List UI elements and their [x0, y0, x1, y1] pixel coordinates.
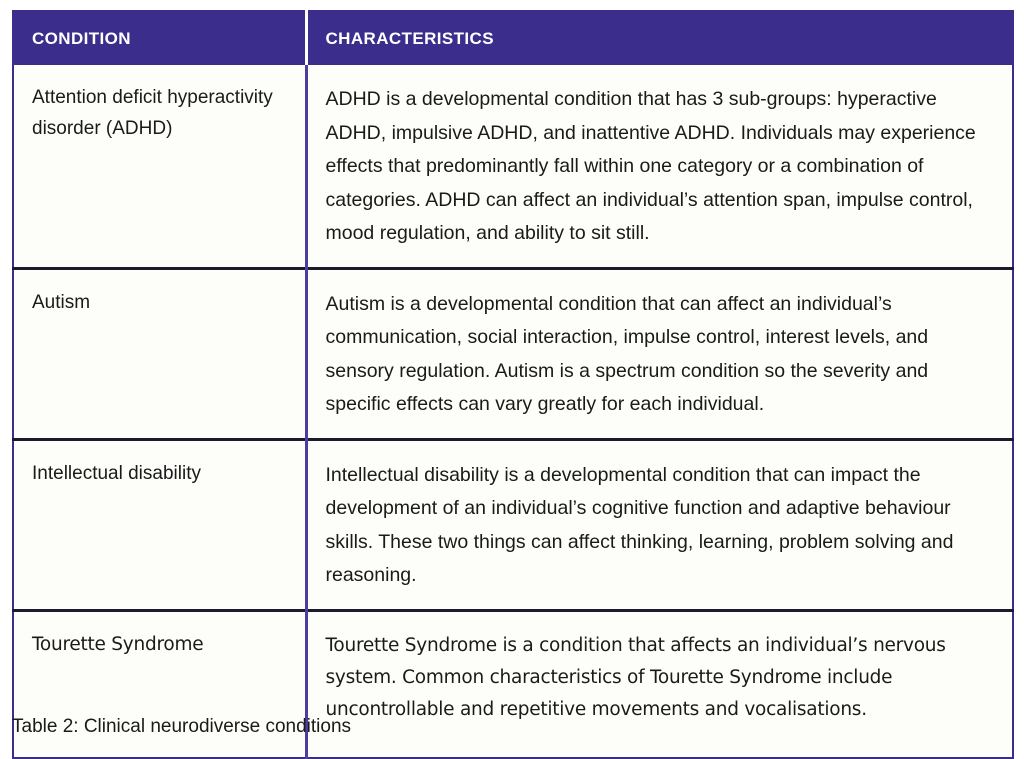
- cell-characteristics-adhd: ADHD is a developmental condition that h…: [306, 65, 1013, 268]
- cell-characteristics-tourette-syndrome: Tourette Syndrome is a condition that af…: [306, 610, 1013, 758]
- page-root: CONDITION CHARACTERISTICS Attention defi…: [0, 0, 1024, 752]
- cell-condition-autism: Autism: [13, 268, 306, 439]
- table-header-row: CONDITION CHARACTERISTICS: [13, 11, 1013, 65]
- clinical-conditions-table-wrapper: CONDITION CHARACTERISTICS Attention defi…: [12, 10, 1012, 759]
- cell-condition-intellectual-disability: Intellectual disability: [13, 439, 306, 610]
- table-row: Intellectual disability Intellectual dis…: [13, 439, 1013, 610]
- table-caption: Table 2: Clinical neurodiverse condition…: [12, 716, 351, 738]
- cell-characteristics-autism: Autism is a developmental condition that…: [306, 268, 1013, 439]
- table-row: Attention deficit hyperactivity disorder…: [13, 65, 1013, 268]
- cell-characteristics-intellectual-disability: Intellectual disability is a development…: [306, 439, 1013, 610]
- column-header-characteristics: CHARACTERISTICS: [306, 11, 1013, 65]
- cell-condition-adhd: Attention deficit hyperactivity disorder…: [13, 65, 306, 268]
- table-body: Attention deficit hyperactivity disorder…: [13, 65, 1013, 758]
- table-head: CONDITION CHARACTERISTICS: [13, 11, 1013, 65]
- column-header-condition: CONDITION: [13, 11, 306, 65]
- table-row: Autism Autism is a developmental conditi…: [13, 268, 1013, 439]
- clinical-conditions-table: CONDITION CHARACTERISTICS Attention defi…: [12, 10, 1014, 759]
